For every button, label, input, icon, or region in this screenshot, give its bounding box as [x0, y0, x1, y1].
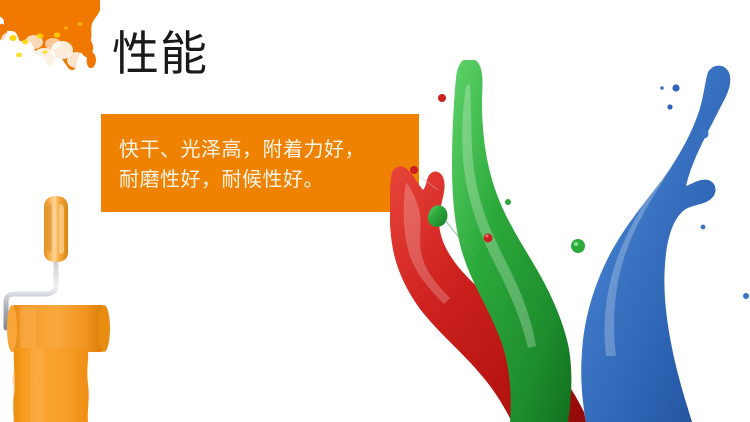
feature-callout-box: 快干、光泽高，附着力好， 耐磨性好，耐候性好。: [101, 114, 419, 212]
paint-roller-illustration: [0, 188, 132, 422]
rgb-paint-splash-illustration: [390, 60, 750, 422]
slide-canvas: 性能 快干、光泽高，附着力好， 耐磨性好，耐候性好。: [0, 0, 750, 422]
callout-line-1: 快干、光泽高，附着力好，: [119, 134, 419, 164]
orange-paint-splatter-icon: [0, 0, 104, 76]
callout-line-2: 耐磨性好，耐候性好。: [119, 164, 419, 194]
page-title: 性能: [112, 28, 208, 82]
